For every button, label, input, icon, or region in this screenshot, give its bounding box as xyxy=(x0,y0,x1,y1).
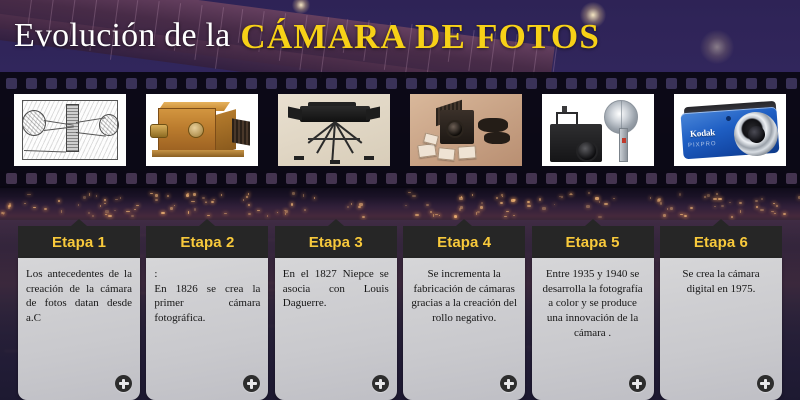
city-light xyxy=(660,202,663,205)
film-frames: Kodak PIXPRO xyxy=(0,94,800,166)
city-light xyxy=(704,196,706,198)
city-light xyxy=(291,203,293,206)
film-perforation xyxy=(346,78,357,89)
stage-card-list: Etapa 1Los antecedentes de la creación d… xyxy=(0,226,800,400)
city-light xyxy=(756,206,757,208)
city-light xyxy=(211,201,215,203)
film-perforation xyxy=(706,173,717,184)
city-light xyxy=(96,195,98,197)
expand-plus-icon[interactable] xyxy=(115,375,132,392)
film-perforation xyxy=(186,78,197,89)
city-light xyxy=(243,199,245,202)
city-light xyxy=(292,192,294,195)
film-perforation xyxy=(646,173,657,184)
film-perforation xyxy=(486,78,497,89)
film-perforation xyxy=(686,173,697,184)
city-light xyxy=(193,193,196,195)
page-title-highlight: CÁMARA DE FOTOS xyxy=(240,19,600,54)
pointer-notch-icon xyxy=(328,219,344,226)
stage-card-body-2: : En 1826 se crea la primer cámara fotog… xyxy=(146,258,268,400)
city-light xyxy=(314,197,315,198)
film-perforation xyxy=(686,78,697,89)
film-perforation xyxy=(126,78,137,89)
city-light xyxy=(554,204,555,205)
film-perforation xyxy=(106,173,117,184)
film-perforation xyxy=(586,78,597,89)
film-perforation xyxy=(526,173,537,184)
city-light xyxy=(506,211,510,213)
city-light xyxy=(174,205,176,206)
film-perforation xyxy=(746,173,757,184)
city-light xyxy=(120,197,122,199)
film-perforation xyxy=(366,173,377,184)
film-perforation xyxy=(546,78,557,89)
city-light xyxy=(773,203,775,205)
city-light xyxy=(586,205,590,207)
city-light xyxy=(650,197,651,198)
kodak-brand-text: Kodak xyxy=(690,127,716,139)
film-perforation xyxy=(86,173,97,184)
city-light xyxy=(502,196,503,197)
city-light xyxy=(480,206,483,208)
city-light xyxy=(477,211,480,213)
film-perforation xyxy=(46,78,57,89)
city-skyline-lights xyxy=(0,186,800,220)
city-light xyxy=(731,216,733,218)
stage-card-3[interactable]: Etapa 3En el 1827 Niepce se asocia con L… xyxy=(275,226,397,400)
stage-card-text: Se incrementa la fabricación de cámaras … xyxy=(411,267,517,326)
city-light xyxy=(716,193,718,195)
film-perforation xyxy=(546,173,557,184)
city-light xyxy=(667,208,668,210)
city-light xyxy=(115,199,119,200)
city-light xyxy=(191,201,195,202)
city-light xyxy=(604,203,608,205)
city-light xyxy=(246,196,248,199)
city-light xyxy=(455,216,457,218)
city-light xyxy=(83,196,87,199)
city-light xyxy=(224,213,227,214)
city-light xyxy=(248,193,250,195)
city-light xyxy=(513,215,515,216)
city-light xyxy=(690,207,693,209)
pointer-notch-icon xyxy=(456,219,472,226)
city-light xyxy=(679,193,681,196)
city-light xyxy=(408,192,411,193)
city-light xyxy=(104,203,106,205)
city-light xyxy=(680,214,683,215)
city-light xyxy=(472,194,473,196)
city-light xyxy=(161,212,164,215)
city-light xyxy=(663,214,667,217)
stage-card-label: Etapa 1 xyxy=(52,234,106,251)
film-perforation xyxy=(166,173,177,184)
film-perforation xyxy=(126,173,137,184)
city-light xyxy=(598,216,602,219)
stage-card-6[interactable]: Etapa 6Se crea la cámara digital en 1975… xyxy=(660,226,782,400)
city-light xyxy=(33,207,36,208)
city-light xyxy=(430,211,433,214)
film-perforation xyxy=(406,78,417,89)
city-light xyxy=(359,203,362,206)
city-light xyxy=(8,206,10,209)
film-perforation xyxy=(746,78,757,89)
expand-plus-icon[interactable] xyxy=(243,375,260,392)
stage-card-header-2: Etapa 2 xyxy=(146,226,268,258)
film-perforation xyxy=(406,173,417,184)
city-light xyxy=(595,197,599,200)
film-perforation xyxy=(766,173,777,184)
film-perforation xyxy=(726,78,737,89)
stage-card-header-6: Etapa 6 xyxy=(660,226,782,258)
city-light xyxy=(739,202,742,204)
stage-card-header-4: Etapa 4 xyxy=(403,226,525,258)
city-light xyxy=(559,196,561,197)
stage-card-text: Los antecedentes de la creación de la cá… xyxy=(26,267,132,326)
city-light xyxy=(771,211,774,212)
city-light xyxy=(415,214,419,216)
city-light xyxy=(362,216,365,218)
film-perforation xyxy=(386,173,397,184)
film-frame-tripod-camera xyxy=(278,94,390,166)
film-perforation xyxy=(366,78,377,89)
city-light xyxy=(707,194,711,196)
film-perforation xyxy=(726,173,737,184)
city-light xyxy=(170,207,172,210)
stage-card-1[interactable]: Etapa 1Los antecedentes de la creación d… xyxy=(18,226,140,400)
city-light xyxy=(527,205,531,207)
film-perforation xyxy=(346,173,357,184)
city-light xyxy=(58,200,60,201)
film-perforation xyxy=(386,78,397,89)
stage-card-body-4: Se incrementa la fabricación de cámaras … xyxy=(403,258,525,400)
film-perforation xyxy=(426,173,437,184)
city-light xyxy=(248,213,252,215)
page-title-plain: Evolución de la xyxy=(14,19,230,53)
stage-card-label: Etapa 3 xyxy=(309,234,363,251)
city-light xyxy=(783,213,786,216)
city-light xyxy=(27,194,31,195)
city-light xyxy=(114,210,117,211)
city-light xyxy=(155,199,158,201)
stage-card-text: En el 1827 Niepce se asocia con Louis Da… xyxy=(283,267,389,311)
city-light xyxy=(718,198,722,200)
city-light xyxy=(131,215,134,217)
film-perforation xyxy=(286,78,297,89)
city-light xyxy=(78,204,79,207)
city-light xyxy=(89,193,91,196)
city-light xyxy=(267,215,268,218)
film-perforation xyxy=(666,78,677,89)
stage-card-label: Etapa 6 xyxy=(694,234,748,251)
film-frame-wooden-box-camera xyxy=(146,94,258,166)
city-light xyxy=(481,202,483,204)
expand-plus-icon[interactable] xyxy=(500,375,517,392)
film-perforation xyxy=(6,78,17,89)
city-light xyxy=(761,198,763,200)
film-perforation xyxy=(286,173,297,184)
city-light xyxy=(351,203,352,205)
city-light xyxy=(100,205,102,206)
film-perforation xyxy=(666,173,677,184)
stage-card-5[interactable]: Etapa 5Entre 1935 y 1940 se desarrolla l… xyxy=(532,226,654,400)
film-perforation xyxy=(266,173,277,184)
expand-plus-icon[interactable] xyxy=(372,375,389,392)
stage-card-body-3: En el 1827 Niepce se asocia con Louis Da… xyxy=(275,258,397,400)
film-perforation xyxy=(326,78,337,89)
infographic-poster: Evolución de la CÁMARA DE FOTOS xyxy=(0,0,800,400)
city-light xyxy=(714,206,716,208)
film-perforation xyxy=(506,78,517,89)
city-light xyxy=(426,204,429,206)
city-light xyxy=(150,193,153,194)
film-perforation xyxy=(766,78,777,89)
city-light xyxy=(658,198,660,201)
city-light xyxy=(539,198,541,201)
film-perforation xyxy=(466,78,477,89)
film-perforation xyxy=(146,173,157,184)
stage-card-text: : En 1826 se crea la primer cámara fotog… xyxy=(154,267,260,326)
film-perforation xyxy=(566,173,577,184)
film-perforation xyxy=(26,78,37,89)
film-perforation xyxy=(206,78,217,89)
film-perforation xyxy=(226,78,237,89)
film-strip: Kodak PIXPRO xyxy=(0,72,800,188)
city-light xyxy=(1,212,3,214)
film-perforation xyxy=(566,78,577,89)
film-perforation xyxy=(26,173,37,184)
city-light xyxy=(459,197,463,199)
film-perforation xyxy=(246,78,257,89)
city-light xyxy=(713,198,717,200)
stage-card-text: Entre 1935 y 1940 se desarrolla la fotog… xyxy=(540,267,646,340)
city-light xyxy=(108,215,112,218)
city-light xyxy=(277,212,278,213)
city-light xyxy=(776,205,778,207)
city-light xyxy=(126,211,130,212)
city-light xyxy=(207,215,210,216)
film-perforation xyxy=(506,173,517,184)
film-perforations-top xyxy=(0,76,800,90)
film-perforation xyxy=(186,173,197,184)
film-perforation xyxy=(586,173,597,184)
film-perforation xyxy=(226,173,237,184)
film-perforation xyxy=(306,78,317,89)
film-perforation xyxy=(266,78,277,89)
film-perforation xyxy=(646,78,657,89)
stage-card-header-5: Etapa 5 xyxy=(532,226,654,258)
city-light xyxy=(439,215,440,217)
film-perforations-bottom xyxy=(0,171,800,185)
film-perforation xyxy=(786,173,797,184)
stage-card-4[interactable]: Etapa 4Se incrementa la fabricación de c… xyxy=(403,226,525,400)
stage-card-text: Se crea la cámara digital en 1975. xyxy=(668,267,774,296)
city-light xyxy=(221,194,222,197)
city-light xyxy=(186,194,189,197)
stage-card-body-1: Los antecedentes de la creación de la cá… xyxy=(18,258,140,400)
city-light xyxy=(105,214,107,215)
city-light xyxy=(202,197,205,199)
city-light xyxy=(774,213,776,214)
pointer-notch-icon xyxy=(199,219,215,226)
stage-card-body-6: Se crea la cámara digital en 1975. xyxy=(660,258,782,400)
film-perforation xyxy=(146,78,157,89)
city-light xyxy=(303,194,304,197)
film-perforation xyxy=(46,173,57,184)
city-light xyxy=(44,208,46,210)
city-light xyxy=(760,209,764,211)
film-perforation xyxy=(446,173,457,184)
film-perforation xyxy=(466,173,477,184)
expand-plus-icon[interactable] xyxy=(757,375,774,392)
city-light xyxy=(194,208,196,211)
film-perforation xyxy=(446,78,457,89)
stage-card-header-1: Etapa 1 xyxy=(18,226,140,258)
city-light xyxy=(755,200,758,202)
film-perforation xyxy=(326,173,337,184)
city-light xyxy=(92,215,94,217)
city-light xyxy=(542,207,545,210)
film-perforation xyxy=(426,78,437,89)
city-light xyxy=(405,205,406,206)
city-light xyxy=(496,197,498,200)
film-perforation xyxy=(606,173,617,184)
film-perforation xyxy=(166,78,177,89)
film-perforation xyxy=(606,78,617,89)
city-light xyxy=(105,210,109,213)
film-perforation xyxy=(6,173,17,184)
poster-title-bar: Evolución de la CÁMARA DE FOTOS xyxy=(0,0,800,72)
city-light xyxy=(504,216,508,218)
city-light xyxy=(136,205,140,206)
city-light xyxy=(684,215,688,217)
stage-card-body-5: Entre 1935 y 1940 se desarrolla la fotog… xyxy=(532,258,654,400)
city-light xyxy=(729,202,730,203)
city-light xyxy=(24,203,26,204)
expand-plus-icon[interactable] xyxy=(629,375,646,392)
city-light xyxy=(613,198,615,199)
film-frame-press-camera-flash xyxy=(542,94,654,166)
city-light xyxy=(476,212,477,215)
film-perforation xyxy=(526,78,537,89)
city-light xyxy=(513,199,517,201)
film-perforation xyxy=(306,173,317,184)
city-light xyxy=(257,210,260,211)
stage-card-label: Etapa 4 xyxy=(437,234,491,251)
stage-card-label: Etapa 2 xyxy=(180,234,234,251)
city-light xyxy=(134,209,136,211)
city-light xyxy=(347,206,349,208)
city-light xyxy=(599,201,601,202)
pointer-notch-icon xyxy=(71,219,87,226)
city-light xyxy=(561,196,564,197)
film-frame-folding-camera-negatives xyxy=(410,94,522,166)
film-perforation xyxy=(66,173,77,184)
city-light xyxy=(670,207,674,210)
city-light xyxy=(61,210,63,213)
film-perforation xyxy=(626,78,637,89)
city-light xyxy=(740,210,741,212)
pointer-notch-icon xyxy=(585,219,601,226)
city-light xyxy=(188,211,190,214)
city-light xyxy=(285,213,286,215)
city-light xyxy=(435,214,438,215)
stage-card-label: Etapa 5 xyxy=(566,234,620,251)
city-light xyxy=(460,206,463,209)
film-perforation xyxy=(206,173,217,184)
film-perforation xyxy=(86,78,97,89)
film-perforation xyxy=(246,173,257,184)
stage-card-2[interactable]: Etapa 2: En 1826 se crea la primer cámar… xyxy=(146,226,268,400)
film-perforation xyxy=(66,78,77,89)
city-light xyxy=(588,192,590,194)
film-perforation xyxy=(626,173,637,184)
film-perforation xyxy=(106,78,117,89)
city-light xyxy=(500,202,503,204)
city-light xyxy=(304,209,306,211)
city-light xyxy=(412,195,416,196)
pointer-notch-icon xyxy=(713,219,729,226)
film-frame-camera-obscura-engraving xyxy=(14,94,126,166)
city-light xyxy=(167,195,170,197)
film-perforation xyxy=(706,78,717,89)
stage-card-header-3: Etapa 3 xyxy=(275,226,397,258)
city-light xyxy=(721,205,724,207)
city-light xyxy=(88,212,90,213)
city-light xyxy=(248,204,250,206)
city-light xyxy=(570,193,572,194)
film-perforation xyxy=(786,78,797,89)
film-frame-kodak-digital-camera: Kodak PIXPRO xyxy=(674,94,786,166)
city-light xyxy=(205,201,207,203)
city-light xyxy=(155,194,158,197)
film-perforation xyxy=(486,173,497,184)
city-light xyxy=(527,201,530,203)
city-light xyxy=(104,199,106,201)
